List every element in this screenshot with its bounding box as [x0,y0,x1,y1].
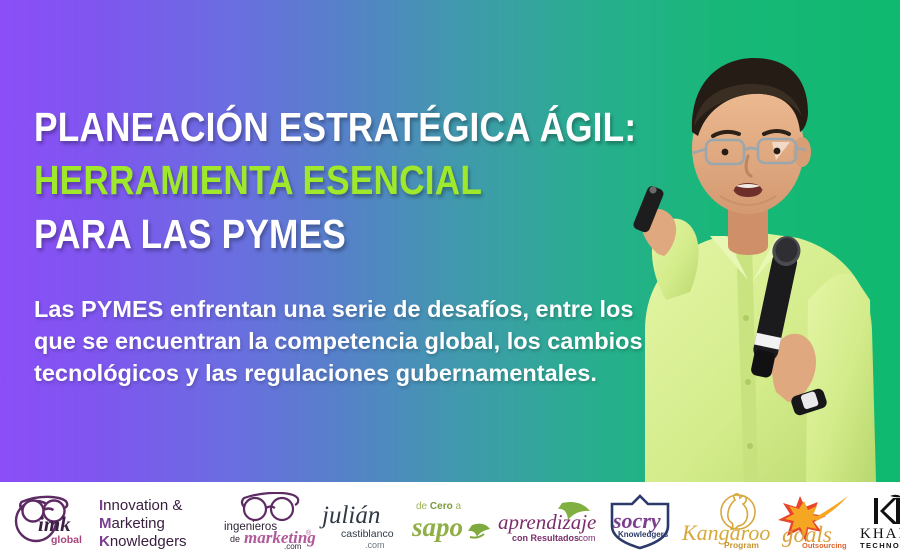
svg-text:KHAMI: KHAMI [860,526,900,542]
logo-de-cero-a-sapo[interactable]: de Cero a sapo sapo [410,489,496,553]
hero-gradient-background: PLANEACIÓN ESTRATÉGICA ÁGIL: HERRAMIENTA… [0,0,900,482]
svg-text:Program: Program [724,540,759,550]
svg-text:Outsourcing: Outsourcing [802,541,847,550]
svg-text:aprendizaje: aprendizaje [498,510,596,534]
headline-line-2-accent: HERRAMIENTA ESENCIAL [34,161,567,200]
svg-text:imk: imk [38,512,71,536]
svg-text:®: ® [306,529,312,537]
logo-socry-knowledgers[interactable]: socry Knowledgers socry [600,489,680,553]
logo-khami-technologies[interactable]: KHAMI TECHNOLOGIES KHAMI [850,489,900,553]
svg-text:Knowledgers: Knowledgers [99,533,187,549]
svg-text:con Resultados: con Resultados [512,533,579,543]
svg-text:julián: julián [319,502,380,529]
logo-julian-castiblanco[interactable]: julián castiblanco .com julián [318,489,410,553]
svg-text:.com: .com [576,533,596,543]
svg-text:Marketing: Marketing [99,515,165,532]
svg-text:Innovation &: Innovation & [99,497,182,514]
svg-text:TECHNOLOGIES: TECHNOLOGIES [860,541,900,550]
logo-ingenieros-de-marketing[interactable]: ingenieros de marketing ® .com ingeniero… [222,489,318,553]
logo-aprendizaje-con-resultados[interactable]: aprendizaje con Resultados .com aprendiz… [496,489,600,553]
svg-text:castiblanco: castiblanco [341,528,394,540]
subtitle-text: Las PYMES enfrentan una serie de desafío… [34,294,674,389]
svg-text:sapo: sapo [411,512,463,542]
logo-imk-global[interactable]: imk global imk [10,489,96,553]
logo-kangaroo-program[interactable]: Kangaroo Program Kangaroo [680,489,774,553]
svg-text:.com: .com [284,542,302,550]
headline-line-1: PLANEACIÓN ESTRATÉGICA ÁGIL: [34,108,567,147]
headline-line-3: PARA LAS PYMES [34,215,567,254]
svg-text:.com: .com [365,540,385,549]
promo-banner: PLANEACIÓN ESTRATÉGICA ÁGIL: HERRAMIENTA… [0,0,900,560]
partner-logo-strip: imk global imk Innovation & Marketing Kn… [0,482,900,560]
logo-goals-outsourcing[interactable]: goals Outsourcing goals [774,489,850,553]
svg-text:Knowledgers: Knowledgers [618,530,669,539]
svg-text:global: global [51,534,82,546]
svg-text:de: de [230,534,240,544]
svg-text:de Cero a: de Cero a [416,501,461,512]
headline-block: PLANEACIÓN ESTRATÉGICA ÁGIL: HERRAMIENTA… [34,108,654,389]
logo-innovation-marketing-knowledgers[interactable]: Innovation & Marketing Knowledgers Innov… [96,489,222,553]
